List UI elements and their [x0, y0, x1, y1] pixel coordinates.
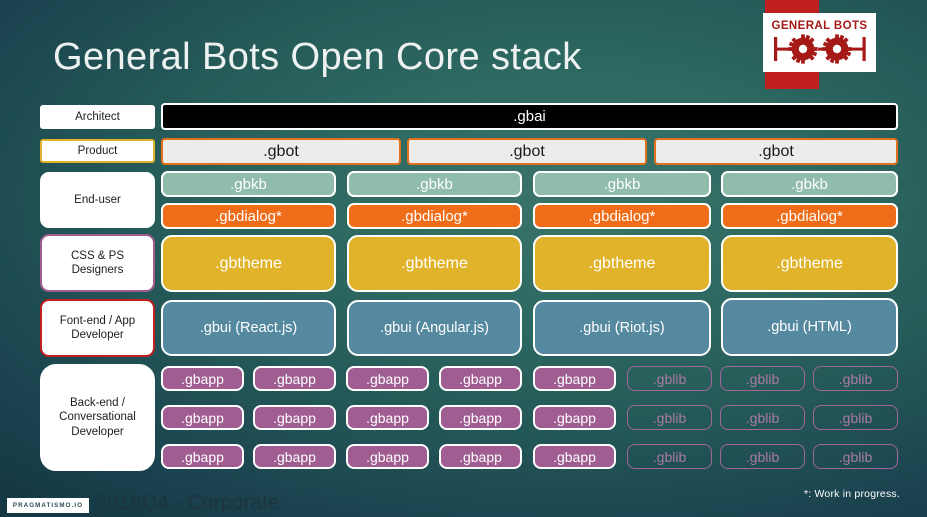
cell-gbui-html[interactable]: .gbui (HTML)	[721, 298, 898, 356]
cell-label: .gbtheme	[589, 255, 656, 273]
cell-label: .gbapp	[273, 410, 316, 426]
cell-label: .gbapp	[553, 371, 596, 387]
cell-label: .gbapp	[181, 371, 224, 387]
cell-gbapp[interactable]: .gbapp	[161, 366, 244, 391]
cell-label: .gbdialog*	[776, 208, 843, 225]
cell-label: .gblib	[653, 449, 686, 465]
stack-diagram: Architect Product End-user CSS & PS Desi…	[0, 0, 927, 517]
cell-label: .gbtheme	[401, 255, 468, 273]
cell-label: .gbkb	[791, 176, 828, 193]
cell-gbapp[interactable]: .gbapp	[161, 405, 244, 430]
cell-gbapp[interactable]: .gbapp	[439, 405, 522, 430]
role-label-text: End-user	[74, 193, 121, 207]
cell-gbot[interactable]: .gbot	[654, 138, 898, 165]
cell-label: .gbui (React.js)	[200, 320, 298, 336]
cell-gbot[interactable]: .gbot	[407, 138, 647, 165]
work-in-progress-note: *: Work in progress.	[804, 488, 900, 500]
role-label-end-user: End-user	[40, 172, 155, 228]
cell-label: .gbui (HTML)	[767, 319, 852, 335]
cell-gbui-react[interactable]: .gbui (React.js)	[161, 300, 336, 356]
cell-label: .gbdialog*	[215, 208, 282, 225]
cell-label: .gblib	[839, 410, 872, 426]
cell-gbapp[interactable]: .gbapp	[439, 444, 522, 469]
cell-label: .gblib	[839, 449, 872, 465]
role-label-css-ps-designers: CSS & PS Designers	[40, 234, 155, 292]
cell-label: .gbapp	[181, 410, 224, 426]
cell-label: .gbapp	[459, 371, 502, 387]
cell-label: .gbkb	[230, 176, 267, 193]
role-label-architect: Architect	[40, 105, 155, 129]
cell-gbkb[interactable]: .gbkb	[161, 171, 336, 197]
slide-canvas: GENERAL BOTS	[0, 0, 927, 517]
cell-label: .gbot	[509, 143, 545, 161]
cell-label: .gbkb	[604, 176, 641, 193]
cell-gblib[interactable]: .gblib	[813, 405, 898, 430]
pragmatismo-logo: PRAGMATISMO.IO	[7, 498, 89, 513]
role-label-frontend-app-developer: Font-end / App Developer	[40, 299, 155, 357]
cell-label: .gblib	[653, 371, 686, 387]
cell-gbapp[interactable]: .gbapp	[253, 444, 336, 469]
cell-label: .gbapp	[366, 410, 409, 426]
cell-label: .gbapp	[273, 449, 316, 465]
cell-label: .gbapp	[459, 410, 502, 426]
cell-gblib[interactable]: .gblib	[813, 444, 898, 469]
cell-gbapp[interactable]: .gbapp	[533, 366, 616, 391]
cell-gbui-riot[interactable]: .gbui (Riot.js)	[533, 300, 711, 356]
cell-label: .gbdialog*	[401, 208, 468, 225]
cell-label: .gbtheme	[776, 255, 843, 273]
cell-gbtheme[interactable]: .gbtheme	[721, 235, 898, 292]
cell-gbapp[interactable]: .gbapp	[253, 405, 336, 430]
cell-gblib[interactable]: .gblib	[813, 366, 898, 391]
cell-gbapp[interactable]: .gbapp	[161, 444, 244, 469]
cell-label: .gblib	[746, 449, 779, 465]
cell-gbapp[interactable]: .gbapp	[253, 366, 336, 391]
cell-label: .gbapp	[553, 449, 596, 465]
cell-label: .gbapp	[553, 410, 596, 426]
cell-label: .gbot	[758, 143, 794, 161]
pragmatismo-logo-text: PRAGMATISMO.IO	[13, 502, 83, 509]
cell-label: .gbai	[513, 108, 546, 125]
cell-label: .gbapp	[459, 449, 502, 465]
cell-gbkb[interactable]: .gbkb	[533, 171, 711, 197]
cell-label: .gbapp	[273, 371, 316, 387]
cell-gbtheme[interactable]: .gbtheme	[161, 235, 336, 292]
cell-gbtheme[interactable]: .gbtheme	[533, 235, 711, 292]
role-label-backend-conversational-developer: Back-end / Conversational Developer	[40, 364, 155, 471]
cell-gbdialog[interactable]: .gbdialog*	[347, 203, 522, 229]
role-label-text: Architect	[75, 110, 120, 124]
cell-label: .gblib	[746, 410, 779, 426]
cell-gbapp[interactable]: .gbapp	[346, 366, 429, 391]
cell-gbtheme[interactable]: .gbtheme	[347, 235, 522, 292]
role-label-text: Font-end / App Developer	[60, 314, 135, 342]
footer-caption: 2018Q4 - Corporate	[96, 492, 279, 515]
role-label-text: Back-end / Conversational Developer	[59, 396, 136, 438]
cell-gbkb[interactable]: .gbkb	[721, 171, 898, 197]
cell-label: .gbot	[263, 143, 299, 161]
cell-label: .gbkb	[416, 176, 453, 193]
cell-label: .gbdialog*	[589, 208, 656, 225]
cell-label: .gbapp	[366, 449, 409, 465]
cell-gbapp[interactable]: .gbapp	[533, 444, 616, 469]
cell-label: .gblib	[746, 371, 779, 387]
cell-gbapp[interactable]: .gbapp	[439, 366, 522, 391]
cell-gbui-angular[interactable]: .gbui (Angular.js)	[347, 300, 522, 356]
cell-gbot[interactable]: .gbot	[161, 138, 401, 165]
cell-gbapp[interactable]: .gbapp	[346, 405, 429, 430]
cell-label: .gblib	[839, 371, 872, 387]
cell-gbdialog[interactable]: .gbdialog*	[533, 203, 711, 229]
cell-gblib[interactable]: .gblib	[627, 444, 712, 469]
cell-label: .gbui (Riot.js)	[579, 320, 664, 336]
cell-gblib[interactable]: .gblib	[627, 366, 712, 391]
role-label-text: CSS & PS Designers	[71, 249, 124, 277]
cell-gbapp[interactable]: .gbapp	[346, 444, 429, 469]
cell-label: .gbapp	[366, 371, 409, 387]
cell-gblib[interactable]: .gblib	[720, 444, 805, 469]
cell-gblib[interactable]: .gblib	[720, 405, 805, 430]
cell-gblib[interactable]: .gblib	[627, 405, 712, 430]
cell-label: .gbtheme	[215, 255, 282, 273]
cell-label: .gblib	[653, 410, 686, 426]
cell-gbapp[interactable]: .gbapp	[533, 405, 616, 430]
cell-gblib[interactable]: .gblib	[720, 366, 805, 391]
cell-gbdialog[interactable]: .gbdialog*	[161, 203, 336, 229]
cell-gbdialog[interactable]: .gbdialog*	[721, 203, 898, 229]
cell-gbai[interactable]: .gbai	[161, 103, 898, 130]
cell-gbkb[interactable]: .gbkb	[347, 171, 522, 197]
cell-label: .gbapp	[181, 449, 224, 465]
role-label-product: Product	[40, 139, 155, 163]
role-label-text: Product	[78, 144, 118, 158]
cell-label: .gbui (Angular.js)	[380, 320, 489, 336]
